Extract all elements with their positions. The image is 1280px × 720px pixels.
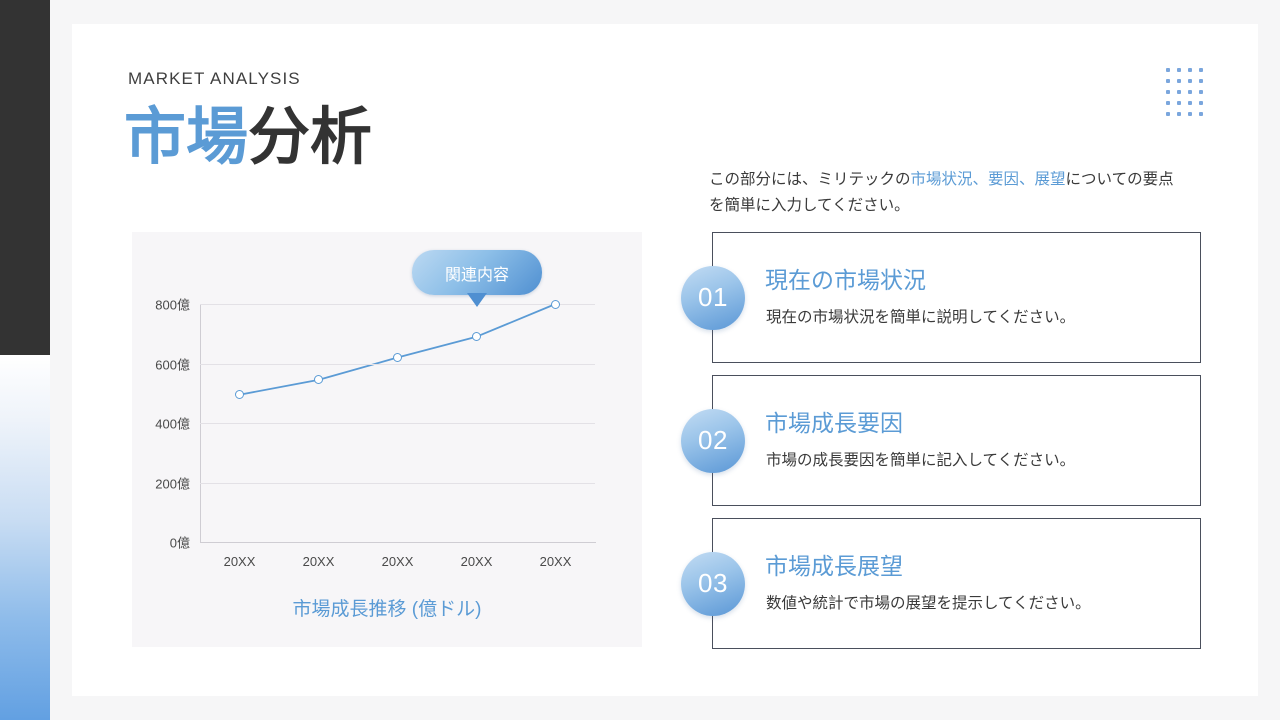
grid-dot <box>1188 101 1192 105</box>
page-title-accent: 市場 <box>124 103 248 172</box>
chart-y-tick-label: 600億 <box>155 354 190 373</box>
grid-dot <box>1199 101 1203 105</box>
item-description: 数値や統計で市場の展望を提示してください。 <box>766 591 1091 613</box>
grid-dot <box>1199 79 1203 83</box>
item-title: 市場成長要因 <box>765 404 903 438</box>
item-number-badge: 01 <box>681 266 745 330</box>
left-dark-accent-bar <box>0 0 50 355</box>
grid-dot <box>1199 90 1203 94</box>
item-box-02[interactable]: 02 市場成長要因 市場の成長要因を簡単に記入してください。 <box>712 375 1201 506</box>
chart-x-tick-label: 20XX <box>540 554 572 569</box>
grid-dot <box>1177 79 1181 83</box>
item-number-badge: 02 <box>681 409 745 473</box>
grid-dot <box>1166 101 1170 105</box>
callout-bubble[interactable]: 関連内容 <box>412 250 542 295</box>
grid-dot <box>1188 90 1192 94</box>
item-description: 市場の成長要因を簡単に記入してください。 <box>766 448 1075 470</box>
grid-dot <box>1177 101 1181 105</box>
item-box-01[interactable]: 01 現在の市場状況 現在の市場状況を簡単に説明してください。 <box>712 232 1201 363</box>
chart-y-tick-label: 0億 <box>170 533 190 552</box>
grid-dot <box>1166 112 1170 116</box>
grid-dot <box>1177 90 1181 94</box>
grid-dot <box>1199 112 1203 116</box>
item-number-badge: 03 <box>681 552 745 616</box>
chart-y-tick-label: 400億 <box>155 414 190 433</box>
grid-dot <box>1177 68 1181 72</box>
item-title: 市場成長展望 <box>765 547 903 581</box>
chart-y-tick-label: 800億 <box>155 295 190 314</box>
chart-y-tick-label: 200億 <box>155 473 190 492</box>
grid-dot <box>1199 68 1203 72</box>
grid-dot <box>1166 90 1170 94</box>
grid-dot <box>1166 79 1170 83</box>
grid-dot <box>1188 79 1192 83</box>
grid-dot <box>1188 68 1192 72</box>
item-title: 現在の市場状況 <box>765 261 926 295</box>
chart-x-tick-label: 20XX <box>382 554 414 569</box>
chart-data-point <box>393 353 402 362</box>
page-title-rest: 分析 <box>248 103 372 172</box>
item-box-03[interactable]: 03 市場成長展望 数値や統計で市場の展望を提示してください。 <box>712 518 1201 649</box>
chart-panel: 0億200億400億600億800億20XX20XX20XX20XX20XX 市… <box>132 232 642 647</box>
chart-gridline <box>200 423 595 424</box>
slide-root: MARKET ANALYSIS 市場分析 0億200億400億600億800億2… <box>0 0 1280 720</box>
chart-x-tick-label: 20XX <box>224 554 256 569</box>
chart-data-point <box>551 300 560 309</box>
callout-label: 関連内容 <box>445 261 509 285</box>
dot-grid-decoration <box>1166 68 1210 123</box>
item-description: 現在の市場状況を簡単に説明してください。 <box>766 305 1075 327</box>
line-chart-plot: 0億200億400億600億800億20XX20XX20XX20XX20XX <box>200 304 595 542</box>
page-title: 市場分析 <box>124 105 372 170</box>
intro-text-highlight: 市場状況、要因、展望 <box>911 171 1066 188</box>
grid-dot <box>1177 112 1181 116</box>
eyebrow-label: MARKET ANALYSIS <box>128 69 301 89</box>
intro-paragraph: この部分には、ミリテックの市場状況、要因、展望についての要点を簡単に入力してくだ… <box>709 167 1189 219</box>
grid-dot <box>1166 68 1170 72</box>
chart-x-tick-label: 20XX <box>303 554 335 569</box>
chart-x-tick-label: 20XX <box>461 554 493 569</box>
chart-gridline <box>200 483 595 484</box>
intro-text-part1: この部分には、ミリテックの <box>709 171 911 188</box>
grid-dot <box>1188 112 1192 116</box>
left-blue-gradient-bar <box>0 355 50 720</box>
chart-caption: 市場成長推移 (億ドル) <box>132 594 642 621</box>
chart-gridline <box>200 304 595 305</box>
chart-gridline <box>200 364 595 365</box>
